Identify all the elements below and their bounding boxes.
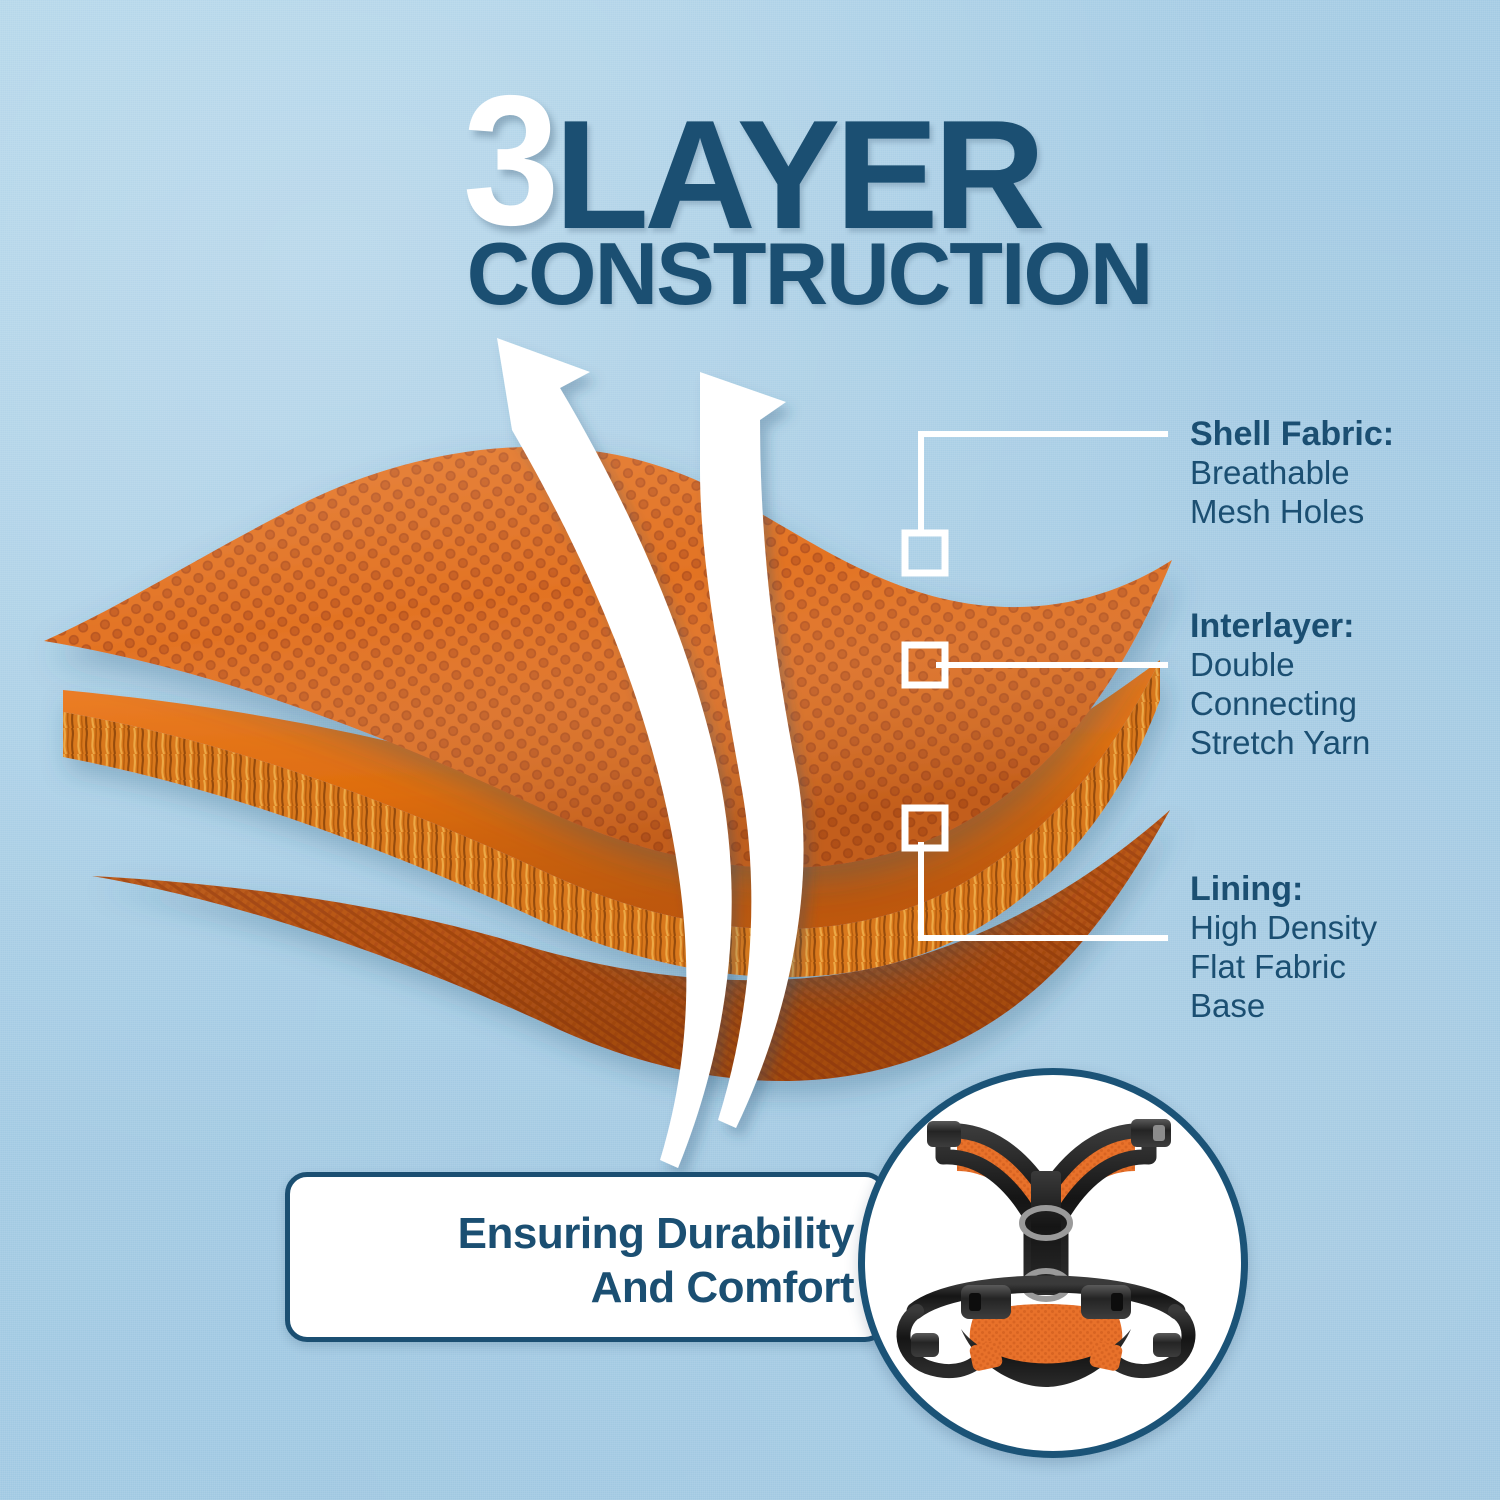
callout-interlayer: Interlayer: Double Connecting Stretch Ya… (1190, 607, 1490, 763)
callout-shell-fabric-line1: Breathable (1190, 454, 1490, 493)
caption-box: Ensuring Durability And Comfort (285, 1172, 887, 1342)
callout-lining: Lining: High Density Flat Fabric Base (1190, 870, 1490, 1026)
product-photo-circle (858, 1068, 1248, 1458)
caption-line-1: Ensuring Durability (314, 1207, 854, 1261)
callout-shell-fabric-heading: Shell Fabric: (1190, 415, 1490, 454)
callout-interlayer-line3: Stretch Yarn (1190, 724, 1490, 763)
callout-interlayer-line2: Connecting (1190, 685, 1490, 724)
callout-lining-line1: High Density (1190, 909, 1490, 948)
harness-slider-left (911, 1333, 939, 1357)
harness-buckle-left (961, 1285, 1011, 1319)
callout-shell-fabric: Shell Fabric: Breathable Mesh Holes (1190, 415, 1490, 532)
callout-lining-line2: Flat Fabric (1190, 948, 1490, 987)
harness-shoulder-adjuster-right (1131, 1119, 1171, 1147)
callout-lining-line3: Base (1190, 987, 1490, 1026)
dog-harness-illustration (865, 1075, 1227, 1437)
callout-shell-fabric-line2: Mesh Holes (1190, 493, 1490, 532)
infographic-canvas: 3 LAYER CONSTRUCTION (0, 0, 1500, 1500)
harness-shoulder-adjuster-left (927, 1121, 961, 1147)
harness-slider-right (1153, 1333, 1181, 1357)
harness-buckle-right (1081, 1285, 1131, 1319)
callout-interlayer-heading: Interlayer: (1190, 607, 1490, 646)
caption-text: Ensuring Durability And Comfort (314, 1207, 854, 1314)
callout-lining-heading: Lining: (1190, 870, 1490, 909)
callout-interlayer-line1: Double (1190, 646, 1490, 685)
caption-line-2: And Comfort (314, 1261, 854, 1315)
